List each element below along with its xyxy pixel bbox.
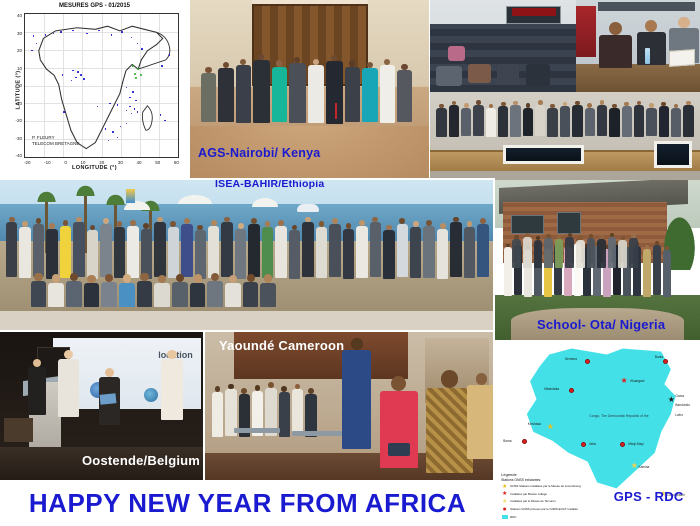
seam-vertical-rdc [493, 332, 495, 526]
rdc-map-legend: Légende Stations GNSS existantes: ★ GNSS… [501, 472, 628, 523]
seam-horizontal-top [0, 178, 495, 180]
seam-vertical-morocco [429, 0, 430, 180]
legend-label-rdc: RDC [510, 516, 516, 519]
gps-map-x-axis-label: LONGITUDE (°) [0, 165, 189, 171]
gps-map-credit-author: P. FLEURY [32, 135, 79, 142]
station-marker-gemena [585, 359, 590, 364]
country-label-drc: Congo, The Democratic Republic of the [589, 414, 648, 418]
greeting-banner: HAPPY NEW YEAR FROM AFRICA [0, 480, 495, 526]
yaounde-cameroon-photo: Yaoundé Cameroon [205, 332, 495, 480]
station-marker-bunia [663, 359, 668, 364]
rabat-panel-speakers-photo [576, 0, 700, 92]
caption-gps-rdc: GPS - RDC [614, 489, 684, 504]
school-ota-nigeria-photo: School- Ota/ Nigeria [495, 180, 700, 340]
legend-row-luxembourg: ★ GNSS Stations installées par le Musée … [501, 484, 628, 490]
star-yellow-outline-icon: ★ [501, 484, 508, 490]
seam-vertical-cameroon [203, 332, 205, 480]
rabat-lecture-hall-photo [430, 0, 576, 92]
legend-label-tervuren: installées par le Musée de Tervuren [510, 500, 556, 503]
legend-row-rdc: RDC [501, 515, 628, 521]
square-cyan-icon [501, 515, 508, 521]
city-label-kamina: Kamina [639, 465, 650, 469]
ags-nairobi-kenya-photo: AGS-Nairobi/ Kenya [190, 0, 430, 180]
legend-title: Légende [501, 472, 628, 477]
gps-map-credit-org: TELECOM BRETAGNE [32, 141, 79, 148]
greeting-banner-text: HAPPY NEW YEAR FROM AFRICA [29, 488, 466, 519]
gps-measurements-map-panel: MESURES GPS - 01/2015 LATITUDE (°) 40302… [0, 0, 190, 180]
legend-row-cnrs: ● Stations GNSS prévues par le CNRS-ECGT… [501, 506, 628, 513]
city-label-bandundu: Bandundu [675, 403, 690, 407]
city-label-bunia: Bunia [655, 355, 663, 359]
seam-vertical-nigeria [493, 180, 495, 340]
city-label-ilebo: Ilebo [589, 442, 596, 446]
star-red-icon: ★ [501, 491, 508, 497]
city-label-kinshasa: Kinshasa [528, 422, 541, 426]
legend-label-luxembourg: GNSS Stations installées par le Musée de… [510, 485, 581, 488]
gps-map-title: MESURES GPS - 01/2015 [0, 3, 189, 9]
city-label-kisangani: Kisangani [630, 379, 644, 383]
city-label-gemena: Gemena [565, 357, 577, 361]
city-label-goma: Goma [675, 394, 684, 398]
conference-poster-secondary [654, 141, 692, 167]
dot-red-icon: ● [501, 506, 508, 513]
city-label-mbandaka: Mbandaka [544, 387, 559, 391]
gps-map-credit: P. FLEURY TELECOM BRETAGNE [32, 135, 79, 149]
star-yellow-icon: ★ [501, 499, 508, 505]
gps-rdc-map-panel: Congo, The Democratic Republic of the Ge… [495, 340, 700, 526]
oostende-belgium-photo: location Oostende/Bel [0, 332, 205, 480]
seam-horizontal-mid [0, 330, 495, 332]
rabat-group-photo: School – Rabat Morocco [430, 92, 700, 180]
station-marker-boma [522, 439, 527, 444]
photo-collage: MESURES GPS - 01/2015 LATITUDE (°) 40302… [0, 0, 700, 526]
legend-row-boston: ★ installées par Boston collège [501, 491, 628, 497]
legend-label-boston: installées par Boston collège [510, 493, 547, 496]
city-label-mbuji-mayi: Mbuji-Mayi [628, 442, 643, 446]
legend-label-cnrs: Stations GNSS prévues par le CNRS-ECGT i… [510, 508, 578, 511]
isea-bahir-ethiopia-photo: ISEA-BAHIR/Ethiopia [0, 180, 495, 332]
legend-subtitle: Stations GNSS existantes: [501, 478, 628, 482]
city-label-boma: Boma [503, 439, 511, 443]
city-label-lwiro: Lwiro [675, 413, 683, 417]
gps-map-y-ticks: 403020100 -10-20-30-40 [6, 13, 22, 158]
legend-row-tervuren: ★ installées par le Musée de Tervuren [501, 499, 628, 505]
seam-vertical-kenya [189, 0, 190, 178]
conference-poster [503, 145, 584, 164]
